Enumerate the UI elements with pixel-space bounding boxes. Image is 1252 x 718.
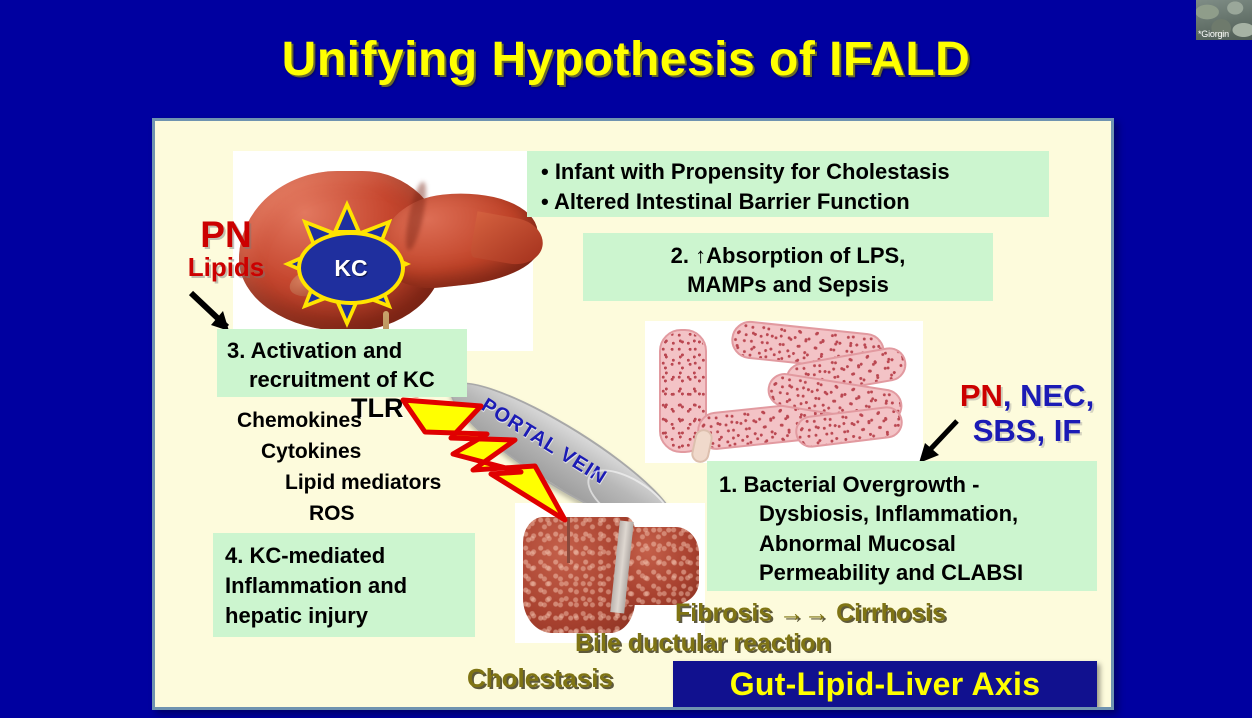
gut-lipid-liver-axis-banner: Gut-Lipid-Liver Axis <box>673 661 1097 707</box>
callout-line: Inflammation and <box>225 571 463 601</box>
outcome-bile-ductular-reaction: Bile ductular reaction <box>575 629 831 658</box>
callout-kc-inflammation: 4. KC-mediated Inflammation and hepatic … <box>213 533 475 637</box>
mediator-item: Chemokines <box>223 406 543 437</box>
callout-line: hepatic injury <box>225 601 463 631</box>
callout-absorption-lps: 2. ↑Absorption of LPS, MAMPs and Sepsis <box>583 233 993 301</box>
callout-line: • Altered Intestinal Barrier Function <box>541 187 1035 217</box>
callout-line: • Infant with Propensity for Cholestasis <box>541 157 1035 187</box>
callout-line: 2. ↑Absorption of LPS, <box>593 241 983 270</box>
banner-text: Gut-Lipid-Liver Axis <box>730 666 1041 703</box>
risk-sbs-if-text: SBS, IF <box>941 414 1113 449</box>
slide-content-panel: KC TLR PN Lipids PORTAL VEIN LPS <box>152 118 1114 710</box>
callout-line: 4. KC-mediated <box>225 541 463 571</box>
risk-factors-label: PN, NEC, SBS, IF <box>941 379 1113 448</box>
outcome-cholestasis: Cholestasis <box>467 663 613 694</box>
pn-lipids-label: PN Lipids <box>171 217 281 283</box>
page-title: Unifying Hypothesis of IFALD <box>0 32 1252 87</box>
pn-text: PN <box>171 217 281 252</box>
callout-bacterial-overgrowth: 1. Bacterial Overgrowth - Dysbiosis, Inf… <box>707 461 1097 591</box>
callout-line: Dysbiosis, Inflammation, <box>719 499 1085 528</box>
risk-pn-text: PN <box>960 378 1003 413</box>
mediator-item: Lipid mediators <box>223 468 543 499</box>
callout-activation-kc: 3. Activation and recruitment of KC <box>217 329 467 397</box>
callout-infant-propensity: • Infant with Propensity for Cholestasis… <box>527 151 1049 217</box>
kupffer-cell-label: KC <box>297 231 405 305</box>
outcome-fibrosis-cirrhosis: Fibrosis →→ Cirrhosis <box>675 599 946 628</box>
mediator-item: ROS <box>223 499 543 530</box>
mediator-item: Cytokines <box>223 437 543 468</box>
risk-nec-text: , NEC, <box>1003 378 1094 413</box>
callout-line: Abnormal Mucosal <box>719 529 1085 558</box>
callout-line: Permeability and CLABSI <box>719 558 1085 587</box>
mediators-list: Chemokines Cytokines Lipid mediators ROS <box>223 406 543 529</box>
intestine-illustration <box>645 321 923 463</box>
lipids-text: Lipids <box>171 252 281 283</box>
callout-line: MAMPs and Sepsis <box>593 270 983 299</box>
kupffer-cell-starburst-icon: KC <box>267 199 427 329</box>
cirrhotic-right-lobe <box>621 527 699 605</box>
callout-line: recruitment of KC <box>227 365 457 394</box>
callout-line: 3. Activation and <box>227 336 457 365</box>
callout-line: 1. Bacterial Overgrowth - <box>719 470 1085 499</box>
